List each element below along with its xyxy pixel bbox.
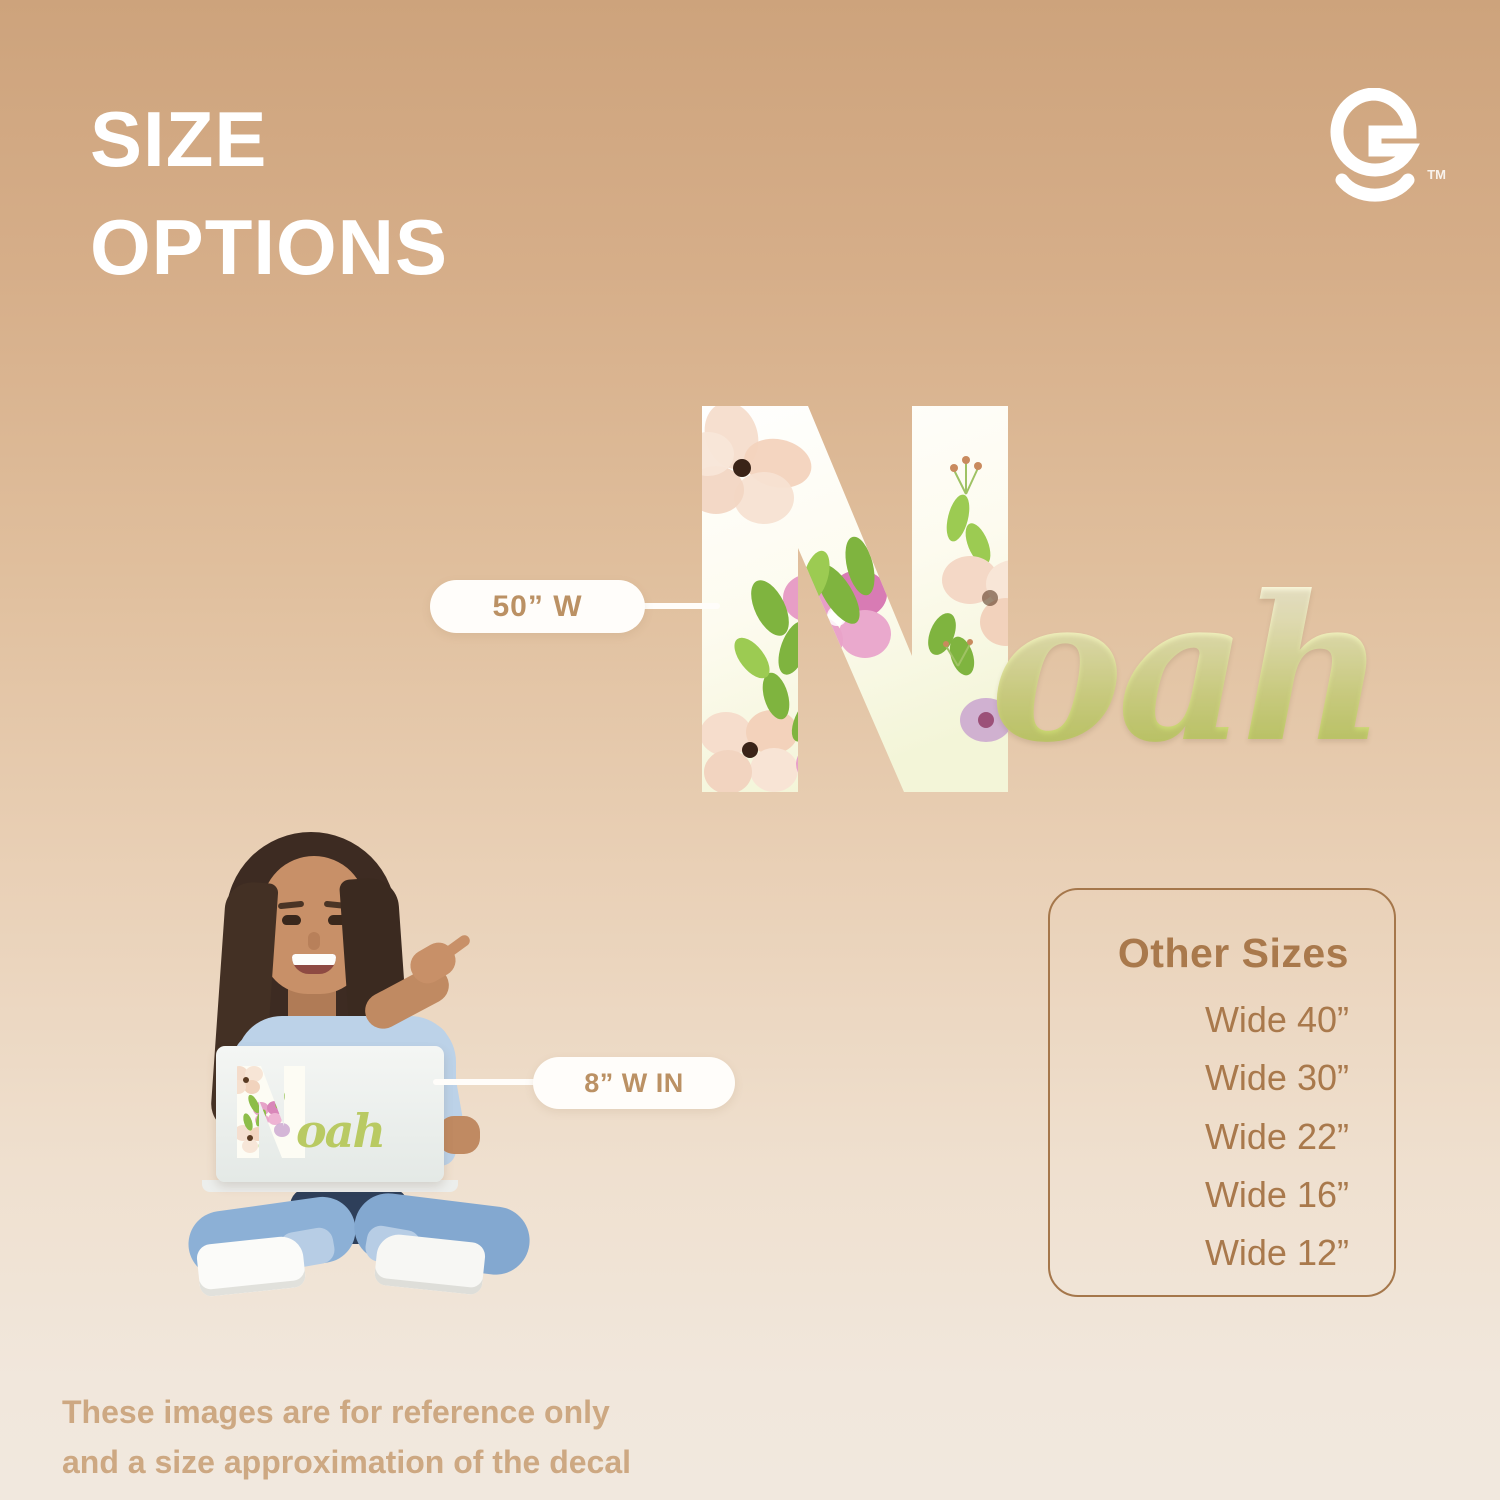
leader-line-small bbox=[433, 1079, 541, 1085]
callout-label-small: 8” W IN bbox=[584, 1068, 684, 1099]
page-title-line1: SIZE bbox=[90, 95, 267, 183]
decal-script-name-small: oah bbox=[296, 1108, 384, 1154]
size-option-item[interactable]: Wide 30” bbox=[1050, 1049, 1349, 1107]
lifestyle-photo-person-with-laptop: oah bbox=[140, 820, 560, 1300]
disclaimer-text: These images are for reference only and … bbox=[62, 1388, 631, 1487]
hand-left bbox=[438, 1116, 480, 1154]
page-title: SIZE OPTIONS bbox=[90, 86, 448, 301]
callout-pill-large[interactable]: 50” W bbox=[430, 580, 645, 633]
disclaimer-line1: These images are for reference only bbox=[62, 1388, 631, 1438]
size-option-item[interactable]: Wide 12” bbox=[1050, 1224, 1349, 1282]
floral-letter-n-icon bbox=[690, 398, 1020, 800]
leader-line-large bbox=[640, 603, 720, 609]
other-sizes-panel: Other Sizes Wide 40” Wide 30” Wide 22” W… bbox=[1048, 888, 1396, 1297]
other-sizes-title: Other Sizes bbox=[1050, 930, 1349, 977]
nose bbox=[308, 932, 320, 950]
disclaimer-line2: and a size approximation of the decal bbox=[62, 1438, 631, 1488]
size-option-item[interactable]: Wide 40” bbox=[1050, 991, 1349, 1049]
decal-script-name: oah bbox=[990, 570, 1380, 770]
decal-preview-small: oah bbox=[234, 1064, 424, 1164]
laptop-lid: oah bbox=[216, 1046, 444, 1182]
trademark-mark: TM bbox=[1427, 167, 1446, 182]
eye-left bbox=[282, 915, 301, 925]
brand-logo: TM bbox=[1320, 88, 1430, 206]
size-option-item[interactable]: Wide 22” bbox=[1050, 1108, 1349, 1166]
teeth bbox=[292, 954, 336, 965]
sneaker-right bbox=[374, 1232, 487, 1295]
g-logo-icon bbox=[1320, 88, 1430, 206]
callout-label-large: 50” W bbox=[492, 590, 582, 624]
page-title-line2: OPTIONS bbox=[90, 194, 448, 302]
callout-pill-small[interactable]: 8” W IN bbox=[533, 1057, 735, 1109]
decal-initial-floral bbox=[690, 398, 1020, 800]
sneaker-left bbox=[196, 1235, 307, 1298]
size-option-item[interactable]: Wide 16” bbox=[1050, 1166, 1349, 1224]
other-sizes-list: Wide 40” Wide 30” Wide 22” Wide 16” Wide… bbox=[1050, 991, 1349, 1283]
decal-preview-large: oah bbox=[690, 398, 1430, 808]
